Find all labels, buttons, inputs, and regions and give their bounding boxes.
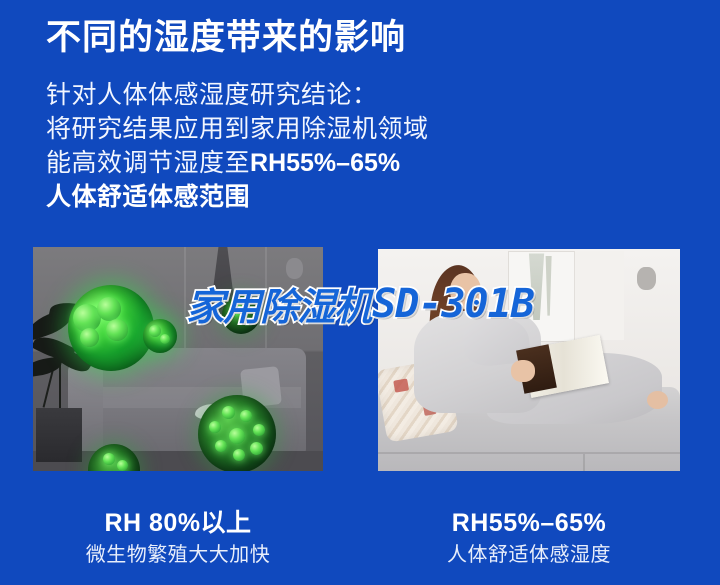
person-face-shape	[450, 273, 480, 309]
intro-line-1: 针对人体体感湿度研究结论：	[46, 78, 606, 112]
intro-line-3-plain: 能高效调节湿度至	[46, 149, 250, 177]
wall-speaker-icon	[286, 258, 303, 279]
photo-panel-left	[33, 247, 323, 471]
page-title: 不同的湿度带来的影响	[46, 14, 406, 62]
intro-line-2: 将研究结果应用到家用除湿机领域	[46, 112, 606, 146]
intro-line-3-highlight: RH55%–65%	[250, 149, 400, 177]
person-hand-shape	[511, 360, 535, 382]
sofa-seam	[378, 452, 680, 454]
caption-left-sub: 微生物繁殖大大加快	[33, 543, 323, 568]
poster-canvas: 不同的湿度带来的影响 针对人体体感湿度研究结论： 将研究结果应用到家用除湿机领域…	[0, 0, 720, 585]
person-foot-shape	[647, 391, 668, 409]
microbe-icon	[68, 285, 154, 371]
caption-left: RH 80%以上 微生物繁殖大大加快	[33, 508, 323, 568]
intro-line-3: 能高效调节湿度至RH55%–65%	[46, 146, 606, 180]
dark-room-scene	[33, 247, 323, 471]
wall-art-panel-secondary	[574, 251, 623, 340]
caption-left-main: RH 80%以上	[33, 508, 323, 538]
sofa-seam-vertical	[583, 454, 585, 471]
intro-paragraph: 针对人体体感湿度研究结论： 将研究结果应用到家用除湿机领域 能高效调节湿度至RH…	[46, 78, 606, 214]
microbe-icon	[222, 296, 260, 334]
intro-line-4: 人体舒适体感范围	[46, 180, 606, 214]
microbe-icon	[143, 319, 177, 353]
caption-right: RH55%–65% 人体舒适体感湿度	[378, 508, 680, 568]
wall-seam-secondary-icon	[265, 247, 267, 350]
caption-right-main: RH55%–65%	[378, 508, 680, 538]
caption-right-sub: 人体舒适体感湿度	[378, 543, 680, 568]
bright-room-scene	[378, 249, 680, 471]
microbe-icon	[198, 395, 276, 471]
plant-pot-shape	[36, 408, 82, 462]
wall-seam-icon	[184, 247, 186, 350]
wall-speaker-icon	[637, 267, 656, 290]
photo-panel-right	[378, 249, 680, 471]
